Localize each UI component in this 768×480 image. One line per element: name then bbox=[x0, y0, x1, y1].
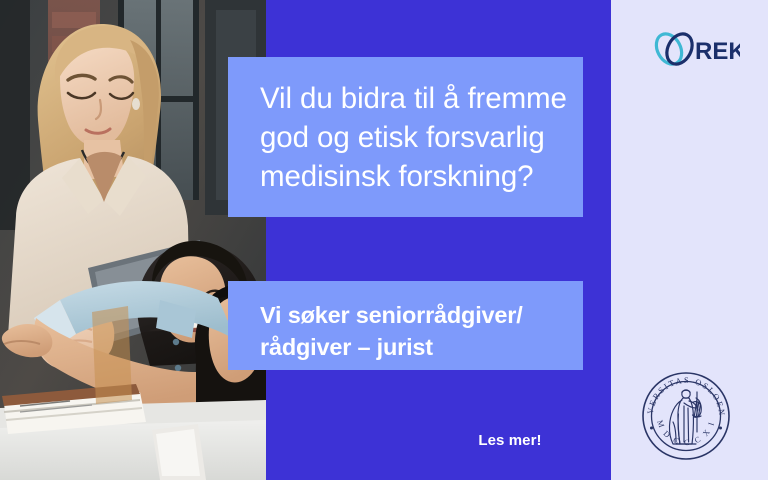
headline-line-1: Vil du bidra til å fremme bbox=[260, 79, 557, 118]
headline-question-box: Vil du bidra til å fremme god og etisk f… bbox=[228, 57, 583, 217]
team-photo-illustration bbox=[0, 0, 266, 480]
rek-logo-mark: REK bbox=[652, 28, 740, 70]
team-photo bbox=[0, 0, 266, 480]
job-title-line-1: Vi søker seniorrådgiver/ bbox=[260, 299, 563, 331]
read-more-link[interactable]: Les mer! bbox=[440, 430, 580, 452]
uio-seal: UNIVERSITAS OSLOENSIS M D C C C X I bbox=[640, 370, 732, 462]
job-title-box: Vi søker seniorrådgiver/ rådgiver – juri… bbox=[228, 281, 583, 370]
job-title-line-2: rådgiver – jurist bbox=[260, 331, 563, 363]
rek-logo: REK bbox=[652, 28, 740, 70]
headline-line-2: god og etisk forsvarlig bbox=[260, 118, 557, 157]
headline-line-3: medisinsk forskning? bbox=[260, 157, 557, 196]
uio-seal-mark: UNIVERSITAS OSLOENSIS M D C C C X I bbox=[640, 370, 732, 462]
rek-wordmark: REK bbox=[695, 38, 740, 65]
recruitment-banner: Vil du bidra til å fremme god og etisk f… bbox=[0, 0, 768, 480]
seal-top-text: UNIVERSITAS OSLOENSIS bbox=[640, 370, 726, 417]
